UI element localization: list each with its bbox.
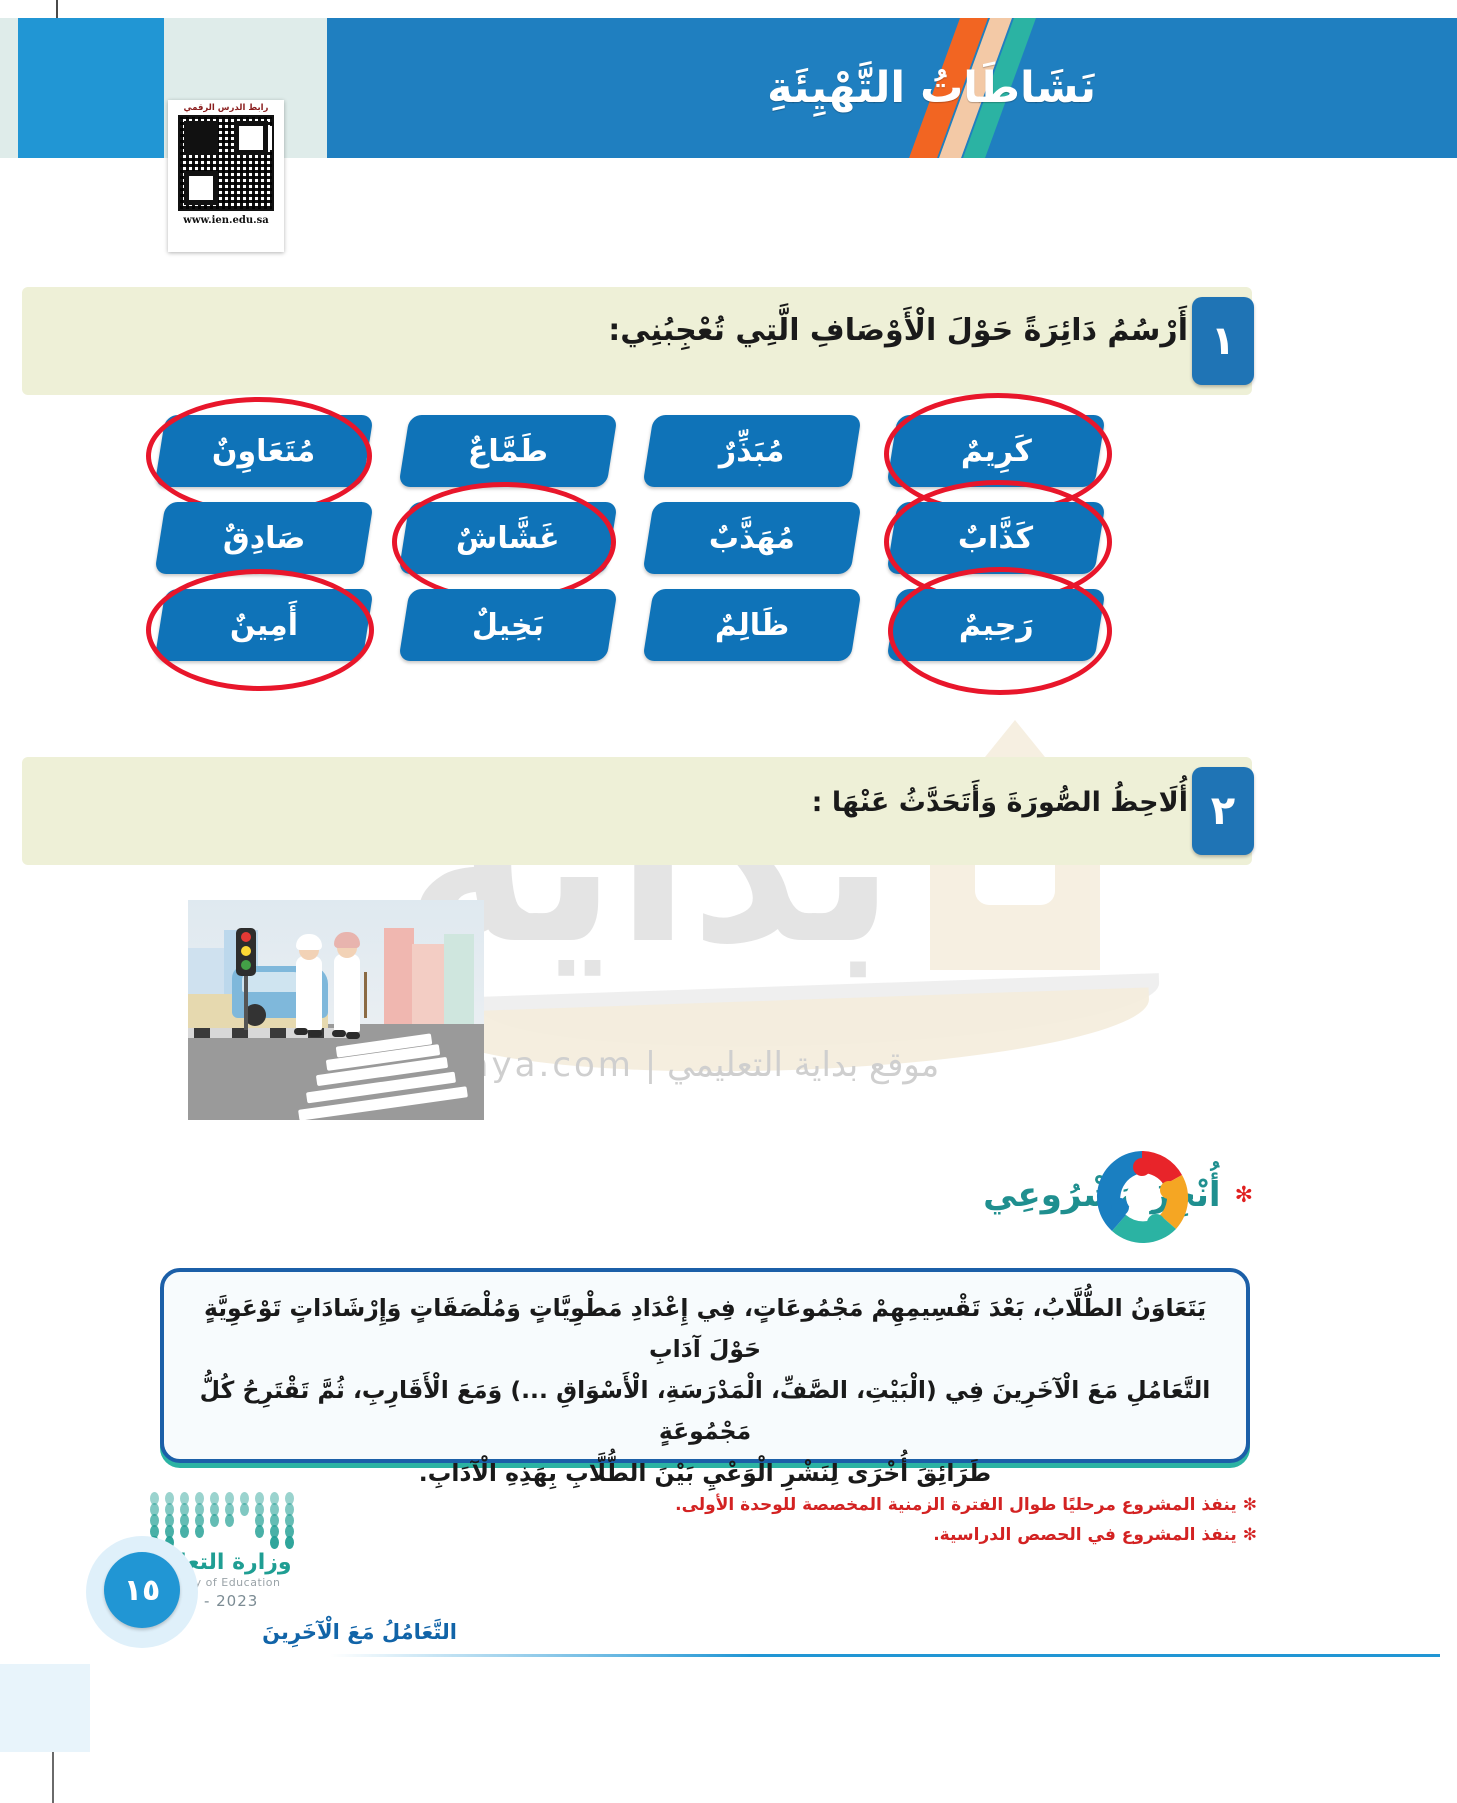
page-number-badge: ١٥ — [104, 1552, 180, 1628]
tile-label: كَذَّابٌ — [958, 521, 1033, 556]
adjective-tile-grid: كَرِيمٌ مُبَذِّرٌ طَمَّاعٌ مُتَعَاوِنٌ ك… — [160, 415, 1100, 676]
project-asterisk: ✻ — [1235, 1183, 1253, 1208]
tile-raheem[interactable]: رَحِيمٌ — [886, 589, 1105, 661]
footer-rule — [330, 1654, 1440, 1657]
qr-code-icon[interactable] — [178, 115, 274, 211]
tile-label: ظَالِمٌ — [715, 608, 789, 643]
task-1-number-badge: ١ — [1192, 297, 1254, 385]
tile-label: صَادِقٌ — [223, 521, 305, 556]
tile-label: مُتَعَاوِنٌ — [212, 434, 315, 469]
tile-label: طَمَّاعٌ — [468, 434, 548, 469]
tile-bakheel[interactable]: بَخِيلٌ — [398, 589, 617, 661]
tile-row-2: كَذَّابٌ مُهَذَّبٌ غَشَّاشٌ صَادِقٌ — [160, 502, 1100, 574]
crosswalk-illustration — [188, 900, 484, 1120]
tile-label: غَشَّاشٌ — [456, 521, 560, 556]
watermark-swoosh-grey — [479, 973, 1161, 1057]
illustration-crosswalk-stripes — [298, 1036, 478, 1116]
task-2-banner: أُلَاحِظُ الصُّورَةَ وَأَتَحَدَّثُ عَنْه… — [22, 757, 1252, 865]
tile-kareem[interactable]: كَرِيمٌ — [886, 415, 1105, 487]
tile-mutaawin[interactable]: مُتَعَاوِنٌ — [154, 415, 373, 487]
illustration-traffic-pole — [244, 974, 248, 1030]
tile-ghashshash[interactable]: غَشَّاشٌ — [398, 502, 617, 574]
illustration-elder-headcover — [334, 932, 360, 948]
page-title: نَشَاطَاتُ التَّهْيِئَةِ — [370, 18, 1130, 158]
project-line: طَرَائِقَ أُخْرَى لِنَشْرِ الْوَعْيِ بَي… — [190, 1453, 1220, 1494]
footnote-text: ينفذ المشروع في الحصص الدراسية. — [933, 1525, 1237, 1545]
illustration-boy-shoe — [308, 1030, 322, 1037]
tile-row-1: كَرِيمٌ مُبَذِّرٌ طَمَّاعٌ مُتَعَاوِنٌ — [160, 415, 1100, 487]
task-2-text: أُلَاحِظُ الصُّورَةَ وَأَتَحَدَّثُ عَنْه… — [812, 787, 1188, 818]
footnote-marker: ✻ — [1243, 1495, 1257, 1515]
tile-label: رَحِيمٌ — [959, 608, 1034, 643]
tile-label: مُهَذَّبٌ — [709, 521, 795, 556]
digital-lesson-qr-card[interactable]: رابط الدرس الرقمي www.ien.edu.sa — [168, 100, 284, 252]
teamwork-circle-logo-icon — [1090, 1145, 1194, 1249]
tile-mubaththir[interactable]: مُبَذِّرٌ — [642, 415, 861, 487]
traffic-light-icon — [236, 928, 256, 976]
footnote-marker: ✻ — [1243, 1525, 1257, 1545]
illustration-building — [412, 944, 446, 1024]
tile-label: كَرِيمٌ — [961, 434, 1032, 469]
task-1-text: أَرْسُمُ دَائِرَةً حَوْلَ الْأَوْصَافِ ا… — [608, 313, 1188, 348]
project-line: التَّعَامُلِ مَعَ الْآخَرِينَ فِي (الْبَ… — [190, 1370, 1220, 1452]
qr-caption: رابط الدرس الرقمي — [168, 100, 284, 113]
tile-label: مُبَذِّرٌ — [719, 434, 784, 469]
footer-left-block — [0, 1664, 90, 1752]
footer-lesson-title: التَّعَامُلُ مَعَ الْآخَرِينَ — [262, 1620, 457, 1644]
qr-url-label: www.ien.edu.sa — [168, 211, 284, 226]
illustration-elder-shoe — [346, 1032, 360, 1039]
footnote-text: ينفذ المشروع مرحليًا طوال الفترة الزمنية… — [675, 1495, 1237, 1515]
illustration-building — [384, 928, 414, 1024]
footnote-item: ✻ينفذ المشروع في الحصص الدراسية. — [337, 1525, 1257, 1545]
illustration-elder — [334, 954, 360, 1032]
footnotes: ✻ينفذ المشروع مرحليًا طوال الفترة الزمني… — [337, 1495, 1257, 1555]
tile-muhaththab[interactable]: مُهَذَّبٌ — [642, 502, 861, 574]
header-left-block — [18, 18, 164, 158]
qr-finder-bottom-left — [184, 171, 218, 205]
task-2-number-badge: ٢ — [1192, 767, 1254, 855]
illustration-walking-cane — [364, 972, 367, 1018]
crop-mark-bottom-vertical — [52, 1745, 54, 1803]
illustration-boy-headcover — [296, 934, 322, 950]
textbook-page: نَشَاطَاتُ التَّهْيِئَةِ رابط الدرس الرق… — [0, 0, 1457, 1803]
tile-zalim[interactable]: ظَالِمٌ — [642, 589, 861, 661]
tile-kaththab[interactable]: كَذَّابٌ — [886, 502, 1105, 574]
project-line: يَتَعَاوَنُ الطُّلَّابُ، بَعْدَ تَقْسِيم… — [190, 1288, 1220, 1370]
illustration-building — [444, 934, 474, 1024]
tile-sadiq[interactable]: صَادِقٌ — [154, 502, 373, 574]
project-description-box: يَتَعَاوَنُ الطُّلَّابُ، بَعْدَ تَقْسِيم… — [160, 1268, 1250, 1463]
tile-tammaa[interactable]: طَمَّاعٌ — [398, 415, 617, 487]
footnote-item: ✻ينفذ المشروع مرحليًا طوال الفترة الزمني… — [337, 1495, 1257, 1515]
watermark-swoosh-cream — [429, 987, 1151, 1082]
tile-label: أَمِينٌ — [230, 608, 298, 643]
tile-row-3: رَحِيمٌ ظَالِمٌ بَخِيلٌ أَمِينٌ — [160, 589, 1100, 661]
task-1-banner: أَرْسُمُ دَائِرَةً حَوْلَ الْأَوْصَافِ ا… — [22, 287, 1252, 395]
illustration-boy — [296, 956, 322, 1030]
tile-ameen[interactable]: أَمِينٌ — [154, 589, 373, 661]
illustration-boy-shoe — [294, 1028, 308, 1035]
ministry-logo-dots — [150, 1492, 310, 1548]
illustration-elder-shoe — [332, 1030, 346, 1037]
tile-label: بَخِيلٌ — [472, 608, 544, 643]
